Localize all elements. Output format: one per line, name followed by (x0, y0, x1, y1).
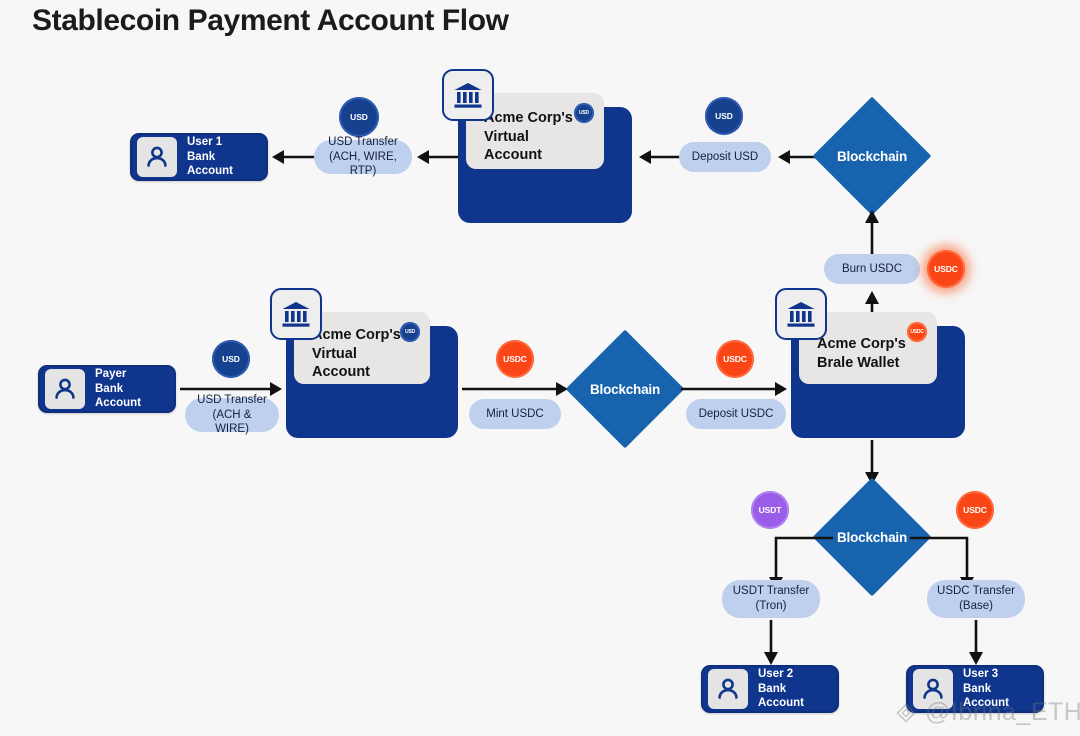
person-icon (45, 369, 85, 409)
usdc-token-mint: USDC (496, 340, 534, 378)
connector-blockchain-to-bralewallet (681, 378, 789, 400)
usdc-token-bottom: USDC (956, 491, 994, 529)
connector-usdt-transfer-to-user2 (760, 620, 782, 666)
usdc-badge-icon: USDC (907, 322, 927, 342)
usdt-transfer-tron-pill: USDT Transfer (Tron) (722, 580, 820, 618)
blockchain-diamond-bottom[interactable]: Blockchain (830, 495, 914, 579)
burn-usdc-pill: Burn USDC (824, 254, 920, 284)
user1-bank-account-label: User 1 Bank Account (187, 135, 254, 178)
usd-token-top: USD (339, 97, 379, 137)
diamond-logo-icon (893, 700, 919, 726)
usdc-transfer-base-pill: USDC Transfer (Base) (927, 580, 1025, 618)
connector-virtualaccount-to-usdtransfer (415, 146, 463, 168)
payer-bank-account-node[interactable]: Payer Bank Account (38, 365, 176, 413)
payer-bank-account-label: Payer Bank Account (95, 367, 162, 410)
person-icon (708, 669, 748, 709)
page-title: Stablecoin Payment Account Flow (32, 4, 509, 38)
user1-bank-account-node[interactable]: User 1 Bank Account (130, 133, 268, 181)
acme-brale-wallet-title: Acme Corp's Brale Wallet (817, 335, 906, 373)
acme-virtual-account-card-middle[interactable]: Acme Corp's Virtual Account USD (286, 326, 458, 438)
connector-virtualaccount-to-blockchain-mint (462, 378, 570, 400)
usdc-token-deposit: USDC (716, 340, 754, 378)
usd-transfer-ach-wire-rtp-pill: USD Transfer (ACH, WIRE, RTP) (314, 140, 412, 174)
acme-virtual-account-card-top[interactable]: Acme Corp's Virtual Account USD (458, 107, 632, 223)
mint-usdc-pill: Mint USDC (469, 399, 561, 429)
diagram-canvas: Stablecoin Payment Account Flow User 1 B… (0, 0, 1080, 736)
deposit-usdc-pill: Deposit USDC (686, 399, 786, 429)
usd-transfer-ach-wire-pill: USD Transfer (ACH & WIRE) (185, 398, 279, 432)
bank-icon (270, 288, 322, 340)
deposit-usd-pill: Deposit USD (679, 142, 771, 172)
watermark: @Ibrina_ETH (893, 698, 1080, 727)
connector-burnusdc-to-blockchain (861, 207, 883, 255)
blockchain-label-top: Blockchain (837, 149, 907, 164)
connector-usdc-transfer-to-user3 (965, 620, 987, 666)
usd-token-deposit: USD (705, 97, 743, 135)
connector-depositusd-to-virtualaccount (637, 146, 683, 168)
usdc-token-burned: USDC (927, 250, 965, 288)
bank-icon (775, 288, 827, 340)
person-icon (137, 137, 177, 177)
blockchain-label-middle: Blockchain (590, 382, 660, 397)
watermark-handle: @Ibrina_ETH (925, 698, 1080, 727)
usd-badge-icon-middle: USD (400, 322, 420, 342)
usd-token-middle: USD (212, 340, 250, 378)
usd-badge-icon-top: USD (574, 103, 594, 123)
user2-bank-account-node[interactable]: User 2 Bank Account (701, 665, 839, 713)
blockchain-label-bottom: Blockchain (837, 530, 907, 545)
blockchain-diamond-middle[interactable]: Blockchain (583, 347, 667, 431)
bank-icon (442, 69, 494, 121)
connector-usdtransfer-to-user1 (270, 146, 316, 168)
blockchain-diamond-top[interactable]: Blockchain (830, 114, 914, 198)
acme-brale-wallet-card[interactable]: Acme Corp's Brale Wallet USDC (791, 326, 965, 438)
usdt-token: USDT (751, 491, 789, 529)
user2-bank-account-label: User 2 Bank Account (758, 667, 825, 710)
